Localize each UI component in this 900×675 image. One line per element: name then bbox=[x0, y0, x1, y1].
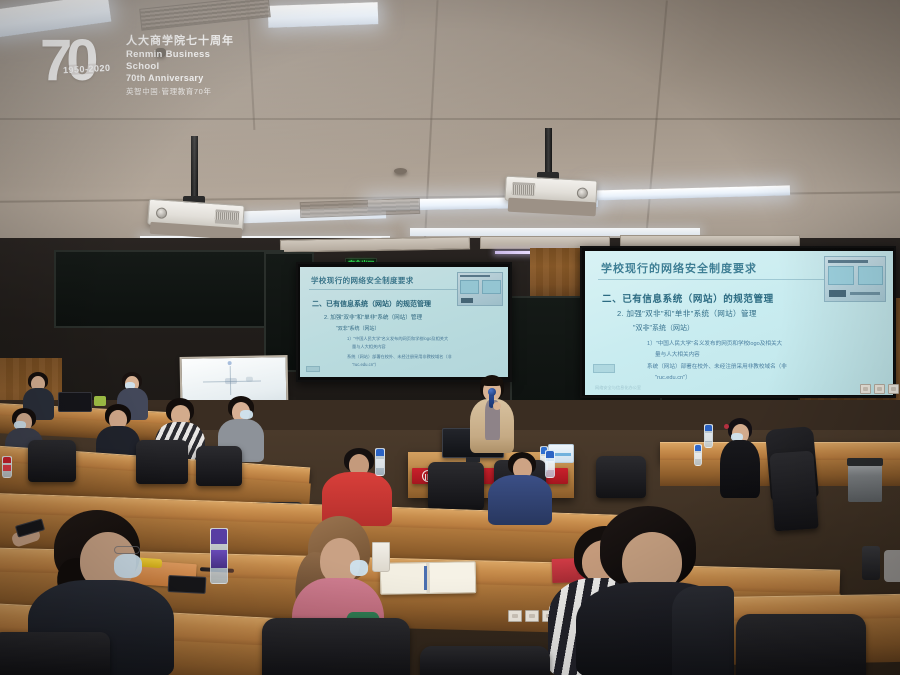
slide-page-tag bbox=[306, 366, 320, 372]
projection-screen-left: 学校现行的网络安全制度要求 二、已有信息系统（网站）的规范管理 2. 加强"双非… bbox=[296, 262, 512, 382]
ceiling-vent bbox=[300, 198, 420, 218]
slide-right: 学校现行的网络安全制度要求 二、已有信息系统（网站）的规范管理 2. 加强"双非… bbox=[585, 251, 893, 395]
water-bottle bbox=[210, 528, 228, 584]
slide-body-line: "ruc.edu.cn"） bbox=[655, 373, 691, 381]
slide-footer: 网络安全与信息化办公室 bbox=[595, 385, 641, 391]
slide-body-line: "ruc.edu.cn"） bbox=[352, 362, 379, 368]
slide-page-tag bbox=[593, 364, 615, 373]
power-outlet bbox=[860, 384, 871, 394]
plastic-bag bbox=[884, 550, 900, 582]
logo-line-en1: Renmin Business School bbox=[126, 49, 242, 73]
chair bbox=[736, 614, 866, 675]
slide-body-line: 2. 加强"双非"和"单非"系统（网站）管理 bbox=[617, 308, 757, 319]
power-outlet bbox=[888, 384, 899, 394]
slide-body-line: 二、已有信息系统（网站）的规范管理 bbox=[312, 299, 431, 309]
slide-body-line: 量与人大相关内容 bbox=[352, 344, 386, 350]
power-outlet bbox=[874, 384, 885, 394]
projection-screen-right: 学校现行的网络安全制度要求 二、已有信息系统（网站）的规范管理 2. 加强"双非… bbox=[580, 246, 896, 398]
slide-body-line: "双非"系统（网站） bbox=[633, 323, 694, 333]
desk-power-outlet bbox=[508, 610, 522, 622]
eyeglasses-icon bbox=[114, 546, 140, 554]
slide-body-line: 系统（网站）部署在校外、未经注册采用非教校域名（非 bbox=[647, 362, 787, 370]
thermos-bottle bbox=[862, 546, 880, 580]
slide-title: 学校现行的网络安全制度要求 bbox=[311, 275, 414, 286]
chair bbox=[428, 462, 484, 510]
trash-bin bbox=[848, 458, 882, 502]
chalkboard bbox=[54, 250, 284, 328]
logo-line-en2: 70th Anniversary bbox=[126, 73, 242, 84]
slide-body-line: 量与人大相关内容 bbox=[655, 350, 700, 358]
ceiling-light-panel bbox=[268, 2, 379, 28]
chair bbox=[420, 646, 550, 675]
slide-left: 学校现行的网络安全制度要求 二、已有信息系统（网站）的规范管理 2. 加强"双非… bbox=[300, 267, 508, 377]
chair bbox=[769, 451, 818, 532]
ceiling-vent bbox=[139, 0, 271, 31]
slide-body-line: 1）"中国人民大学"名义发布的网页和学校logo及相关大 bbox=[347, 336, 448, 342]
open-notebook bbox=[380, 561, 477, 595]
logo-line-cn: 人大商学院七十周年 bbox=[126, 35, 242, 48]
chair bbox=[596, 456, 646, 498]
slide-body-line: 二、已有信息系统（网站）的规范管理 bbox=[602, 291, 774, 305]
water-bottle bbox=[694, 444, 702, 466]
laptop bbox=[58, 392, 92, 412]
logo-number: 70 bbox=[40, 32, 93, 90]
slide-body-line: 系统（网站）部署在校外、未经注册采用非教校域名（非 bbox=[347, 354, 452, 360]
desk-power-outlet bbox=[525, 610, 539, 622]
smoke-detector-icon bbox=[394, 168, 407, 174]
audience-member bbox=[718, 418, 762, 498]
water-bottle bbox=[375, 448, 385, 476]
presenter bbox=[466, 375, 518, 459]
chair bbox=[262, 618, 410, 675]
ceiling-soffit bbox=[280, 236, 470, 252]
slide-title: 学校现行的网络安全制度要求 bbox=[601, 260, 757, 276]
logo-tagline: 英智中国·管理教育70年 bbox=[126, 86, 242, 97]
presenter-hand bbox=[493, 402, 501, 410]
water-bottle bbox=[545, 450, 555, 478]
audience-member-front-right bbox=[576, 506, 736, 675]
presenter-hair-front bbox=[481, 376, 503, 386]
chair bbox=[28, 440, 76, 482]
anniversary-logo: 70 1950-2020 人大商学院七十周年 Renmin Business S… bbox=[40, 30, 240, 102]
beverage-can bbox=[2, 456, 12, 478]
logo-years: 1950-2020 bbox=[60, 63, 114, 76]
ceiling-light-strip bbox=[590, 185, 790, 200]
projector-mount-pole bbox=[545, 128, 552, 176]
slide-body-line: 1）"中国人民大学"名义发布的网页和学校logo及相关大 bbox=[647, 339, 782, 347]
video-conference-thumbnail bbox=[457, 272, 503, 306]
projector-mount-pole bbox=[191, 136, 198, 200]
slide-body-line: "双非"系统（网站） bbox=[336, 325, 380, 332]
ceiling: 70 1950-2020 人大商学院七十周年 Renmin Business S… bbox=[0, 0, 900, 250]
seating-area: 人大商学院 bbox=[0, 400, 900, 675]
chair bbox=[196, 446, 242, 486]
video-conference-thumbnail bbox=[824, 256, 886, 302]
chair bbox=[0, 632, 110, 675]
lecture-hall-photo: 70 1950-2020 人大商学院七十周年 Renmin Business S… bbox=[0, 0, 900, 675]
slide-body-line: 2. 加强"双非"和"单非"系统（网站）管理 bbox=[324, 313, 422, 321]
bookmark-ribbon bbox=[424, 566, 427, 590]
water-bottle bbox=[704, 424, 713, 448]
chair bbox=[136, 440, 188, 484]
